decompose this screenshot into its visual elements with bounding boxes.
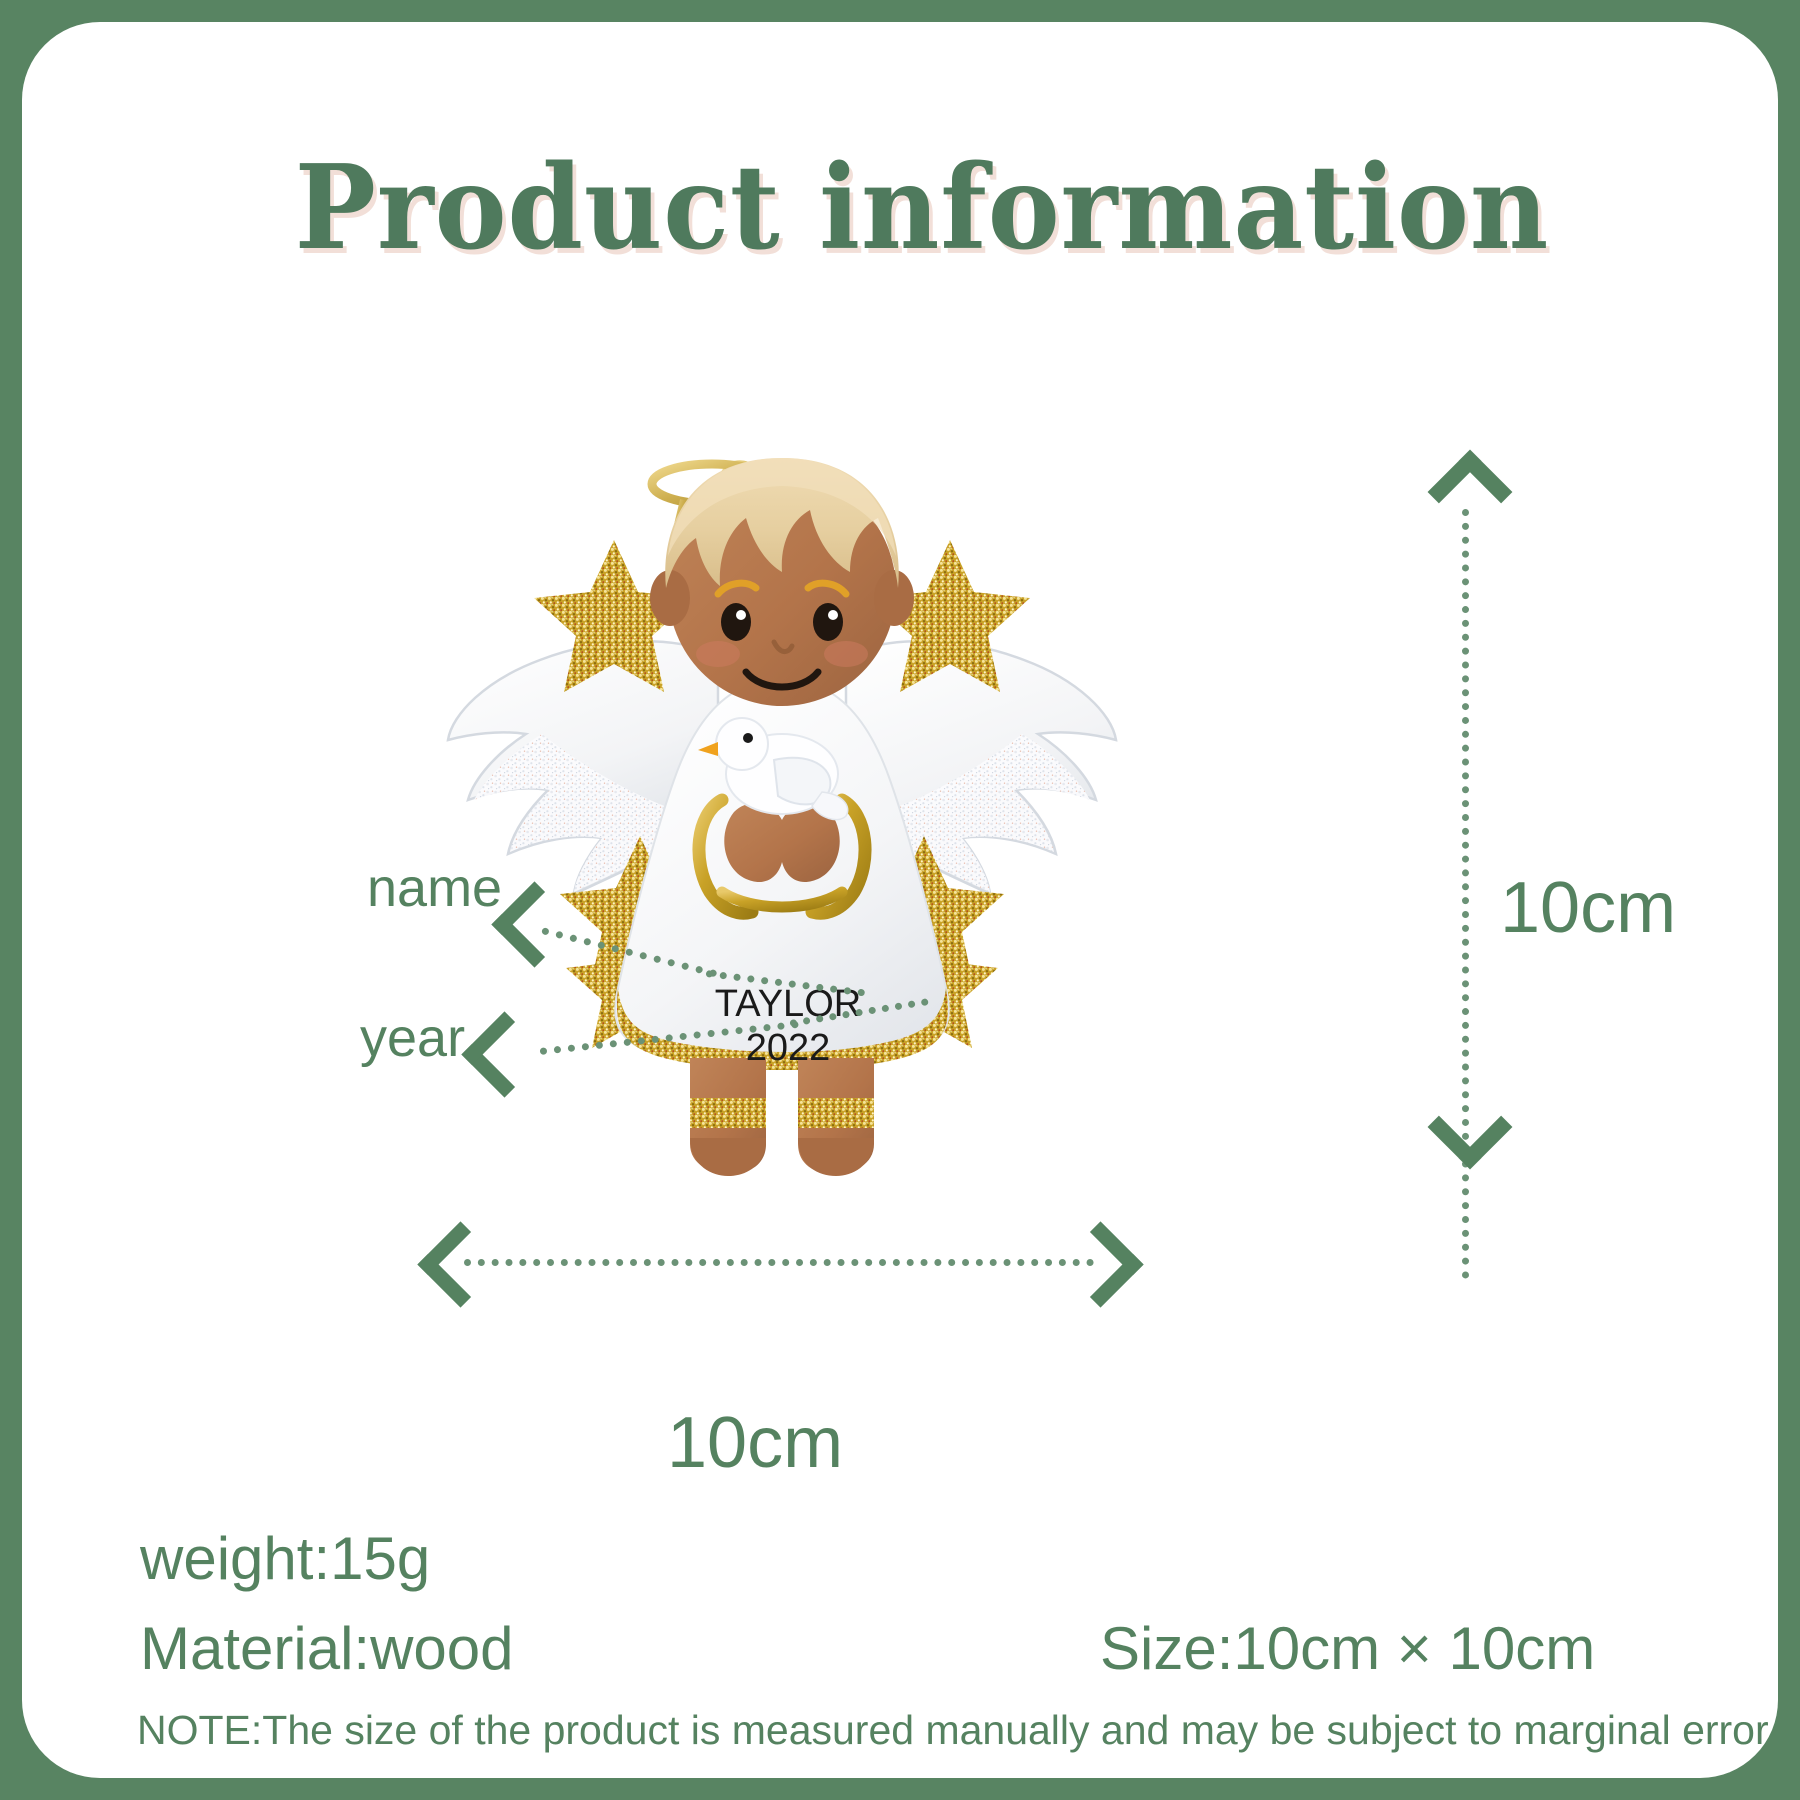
spec-note: NOTE:The size of the product is measured… [137, 1707, 1778, 1754]
dimension-label-horizontal: 10cm [667, 1402, 843, 1484]
chevron-right-icon [1057, 1221, 1143, 1307]
annotation-label-name: name [367, 857, 502, 919]
dimension-label-vertical: 10cm [1500, 867, 1676, 949]
product-image: TAYLOR 2022 [422, 422, 1142, 1202]
chevron-down-icon [1428, 1085, 1513, 1170]
chevron-up-icon [1428, 450, 1513, 535]
spec-material: Material:wood [140, 1614, 514, 1683]
personalization-year: 2022 [746, 1027, 831, 1069]
annotation-label-year: year [360, 1007, 465, 1069]
legs-and-shoes [690, 1058, 874, 1176]
dimension-line-horizontal [464, 1259, 1094, 1266]
page-title: Product information [85, 140, 1759, 276]
spec-size: Size:10cm × 10cm [1100, 1614, 1595, 1683]
spec-weight: weight:15g [140, 1524, 430, 1593]
product-info-card: Product information [22, 22, 1778, 1778]
